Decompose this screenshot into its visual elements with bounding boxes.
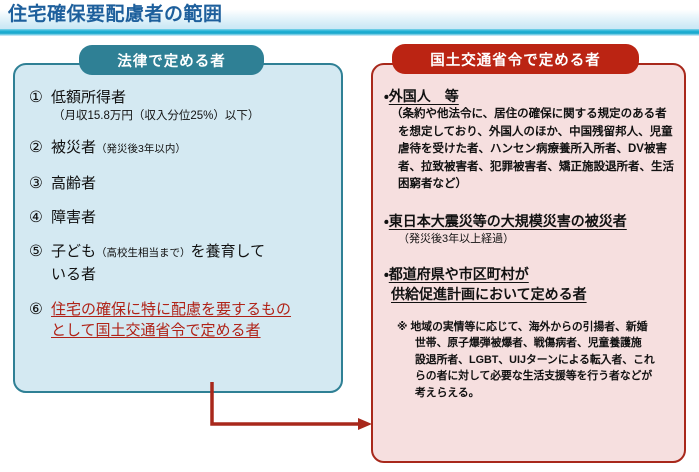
ordinance-item-3-label-line2: 供給促進計画において定める者 bbox=[384, 284, 676, 304]
ordinance-item-2: ・東日本大震災等の大規模災害の被災者 （発災後3年以上経過） bbox=[384, 211, 676, 248]
law-item-5-number: ⑤ bbox=[29, 241, 51, 262]
ordinance-asterisk-line-5: 考えらえる。 bbox=[384, 385, 676, 402]
ordinance-item-2-label: 東日本大震災等の大規模災害の被災者 bbox=[389, 213, 627, 229]
ordinance-asterisk-line-2: 世帯、原子爆弾被爆者、戦傷病者、児童養護施 bbox=[384, 335, 676, 352]
ordinance-item-1-paren-line-1: （条約や他法令に、居住の確保に関する規定のある者 bbox=[384, 106, 676, 124]
law-item-3-number: ③ bbox=[29, 173, 51, 194]
ordinance-item-3: ・都道府県や市区町村が 供給促進計画において定める者 bbox=[384, 264, 676, 304]
law-item-2-label: 被災者 bbox=[51, 139, 96, 156]
law-item-6-continuation: として国土交通省令で定める者 bbox=[29, 320, 331, 341]
ordinance-item-2-note: （発災後3年以上経過） bbox=[384, 231, 676, 248]
law-item-1-label: 低額所得者 bbox=[51, 89, 126, 106]
law-item-4-number: ④ bbox=[29, 207, 51, 228]
ordinance-asterisk-line-4: らの者に対して必要な生活支援等を行う者などが bbox=[384, 368, 676, 385]
law-item-5-label-tail: を養育して bbox=[191, 243, 266, 260]
law-item-6-label: 住宅の確保に特に配慮を要するもの bbox=[51, 301, 291, 318]
ordinance-item-1-paren-line-3: 虐待を受けた者、ハンセン病療養所入所者、DV被害 bbox=[384, 141, 676, 159]
law-item-list: ①低額所得者 （月収15.8万円（収入分位25%）以下） ②被災者（発災後3年以… bbox=[29, 87, 331, 346]
ordinance-item-1-paren-line-5: 困窮者など） bbox=[384, 176, 676, 194]
law-panel-header: 法律で定める者 bbox=[79, 45, 264, 75]
ordinance-panel-header: 国土交通省令で定める者 bbox=[392, 44, 639, 74]
law-item-5: ⑤子ども（高校生相当まで）を養育して いる者 bbox=[29, 241, 331, 285]
ordinance-item-list: ・外国人 等 （条約や他法令に、居住の確保に関する規定のある者 を想定しており、… bbox=[384, 86, 676, 407]
law-item-5-label: 子ども bbox=[51, 243, 96, 260]
title-band: 住宅確保要配慮者の範囲 bbox=[0, 0, 699, 36]
law-item-6-number: ⑥ bbox=[29, 299, 51, 320]
law-item-4: ④障害者 bbox=[29, 207, 331, 228]
law-panel: ①低額所得者 （月収15.8万円（収入分位25%）以下） ②被災者（発災後3年以… bbox=[13, 63, 343, 393]
ordinance-panel: ・外国人 等 （条約や他法令に、居住の確保に関する規定のある者 を想定しており、… bbox=[371, 63, 686, 463]
ordinance-item-3-label: 都道府県や市区町村が bbox=[389, 266, 529, 282]
slide-canvas: 住宅確保要配慮者の範囲 ①低額所得者 （月収15.8万円（収入分位25%）以下）… bbox=[0, 0, 699, 472]
law-item-5-note: （高校生相当まで） bbox=[96, 247, 191, 259]
law-item-3-label: 高齢者 bbox=[51, 175, 96, 192]
ordinance-item-1-paren-line-4: 者、拉致被害者、犯罪被害者、矯正施設退所者、生活 bbox=[384, 159, 676, 177]
law-item-1-number: ① bbox=[29, 87, 51, 108]
title-underline-rule bbox=[0, 29, 699, 35]
ordinance-asterisk-line-1: ※ 地域の実情等に応じて、海外からの引揚者、新婚 bbox=[384, 319, 676, 336]
page-title: 住宅確保要配慮者の範囲 bbox=[8, 2, 223, 28]
law-item-2-note: （発災後3年以内） bbox=[96, 143, 186, 155]
ordinance-item-1-label: 外国人 等 bbox=[389, 88, 459, 104]
ordinance-item-1: ・外国人 等 （条約や他法令に、居住の確保に関する規定のある者 を想定しており、… bbox=[384, 86, 676, 194]
law-item-4-label: 障害者 bbox=[51, 209, 96, 226]
ordinance-item-1-paren-line-2: を想定しており、外国人のほか、中国残留邦人、児童 bbox=[384, 124, 676, 142]
law-item-1: ①低額所得者 （月収15.8万円（収入分位25%）以下） bbox=[29, 87, 331, 125]
law-item-3: ③高齢者 bbox=[29, 173, 331, 194]
ordinance-asterisk-note: ※ 地域の実情等に応じて、海外からの引揚者、新婚 世帯、原子爆弾被爆者、戦傷病者… bbox=[384, 319, 676, 402]
law-item-6: ⑥住宅の確保に特に配慮を要するもの として国土交通省令で定める者 bbox=[29, 299, 331, 341]
law-item-5-continuation: いる者 bbox=[29, 264, 331, 285]
law-item-2: ②被災者（発災後3年以内） bbox=[29, 137, 331, 160]
law-item-2-number: ② bbox=[29, 137, 51, 158]
ordinance-asterisk-line-3: 設退所者、LGBT、UIJターンによる転入者、これ bbox=[384, 352, 676, 369]
law-item-1-note: （月収15.8万円（収入分位25%）以下） bbox=[29, 108, 331, 125]
